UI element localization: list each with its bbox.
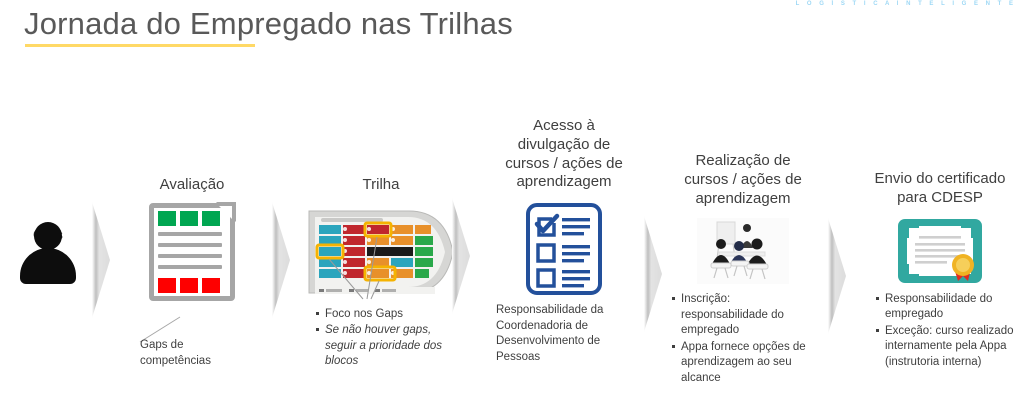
step-envio-heading: Envio do certificado para CDESP: [860, 170, 1020, 208]
document-text-lines: [158, 232, 222, 276]
arrow-realizacao-to-envio: [824, 216, 858, 336]
step-gaps: Gaps: [6, 222, 90, 242]
person-head: [34, 222, 62, 250]
arrow-avaliacao-to-trilha: [268, 200, 302, 320]
step-realizacao-heading: Realização de cursos / ações de aprendiz…: [668, 152, 818, 208]
title-underline-rule: [25, 44, 255, 47]
envio-bullets: Responsabilidade do empregado Exceção: c…: [876, 292, 1020, 371]
classroom-photo: [697, 218, 789, 284]
ship-blocks-icon: [305, 203, 457, 301]
list-item: Foco nos Gaps: [316, 307, 460, 323]
red-gap-blocks: [158, 278, 220, 293]
step-trilha: Trilha: [302, 176, 460, 371]
step-acesso-divulgacao: Acesso à divulgação de cursos / ações de…: [490, 117, 638, 365]
list-item: Exceção: curso realizado internamente pe…: [876, 324, 1020, 371]
step-acesso-heading: Acesso à divulgação de cursos / ações de…: [490, 117, 638, 192]
document-fold-inner: [219, 206, 232, 219]
person-body: [20, 248, 76, 284]
list-item: Inscrição: responsabilidade do empregado: [672, 292, 818, 339]
document-assessment-icon: [149, 203, 235, 301]
step-realizacao-cursos: Realização de cursos / ações de aprendiz…: [668, 152, 818, 387]
caption-responsabilidade-cdp: Responsabilidade da Coordenadoria de Des…: [496, 303, 632, 365]
list-item: Appa fornece opções de aprendizagem ao s…: [672, 340, 818, 387]
arrow-trilha-to-acesso: [448, 196, 482, 316]
realizacao-bullets: Inscrição: responsabilidade do empregado…: [672, 292, 818, 386]
slide-canvas: L O G Í S T I C A I N T E L I G E N T E …: [0, 0, 1024, 419]
caption-gaps-competencias: Gaps de competências: [140, 338, 250, 369]
step-envio-certificado: Envio do certificado para CDESP: [860, 170, 1020, 371]
step-avaliacao: Avaliação: [128, 176, 256, 301]
certificate-icon-wrap: [860, 218, 1020, 284]
arrow-gaps-to-avaliacao: [88, 200, 122, 320]
page-title: Jornada do Empregado nas Trilhas: [24, 6, 513, 42]
logistica-inteligente-brand: L O G Í S T I C A I N T E L I G E N T E: [796, 1, 1016, 7]
step-avaliacao-heading: Avaliação: [128, 176, 256, 195]
green-score-blocks: [158, 211, 220, 226]
list-item: Se não houver gaps, seguir a prioridade …: [316, 323, 460, 370]
checklist-icon: [525, 202, 603, 296]
certificate-icon: [897, 218, 983, 284]
ship-icon-wrap: [302, 203, 460, 301]
step-trilha-heading: Trilha: [302, 176, 460, 195]
checklist-icon-wrap: [490, 202, 638, 296]
classroom-photo-wrap: [668, 218, 818, 284]
list-item: Responsabilidade do empregado: [876, 292, 1020, 323]
person-icon: [20, 222, 76, 284]
trilha-bullets: Foco nos Gaps Se não houver gaps, seguir…: [316, 307, 460, 370]
document-icon-wrap: [128, 203, 256, 301]
